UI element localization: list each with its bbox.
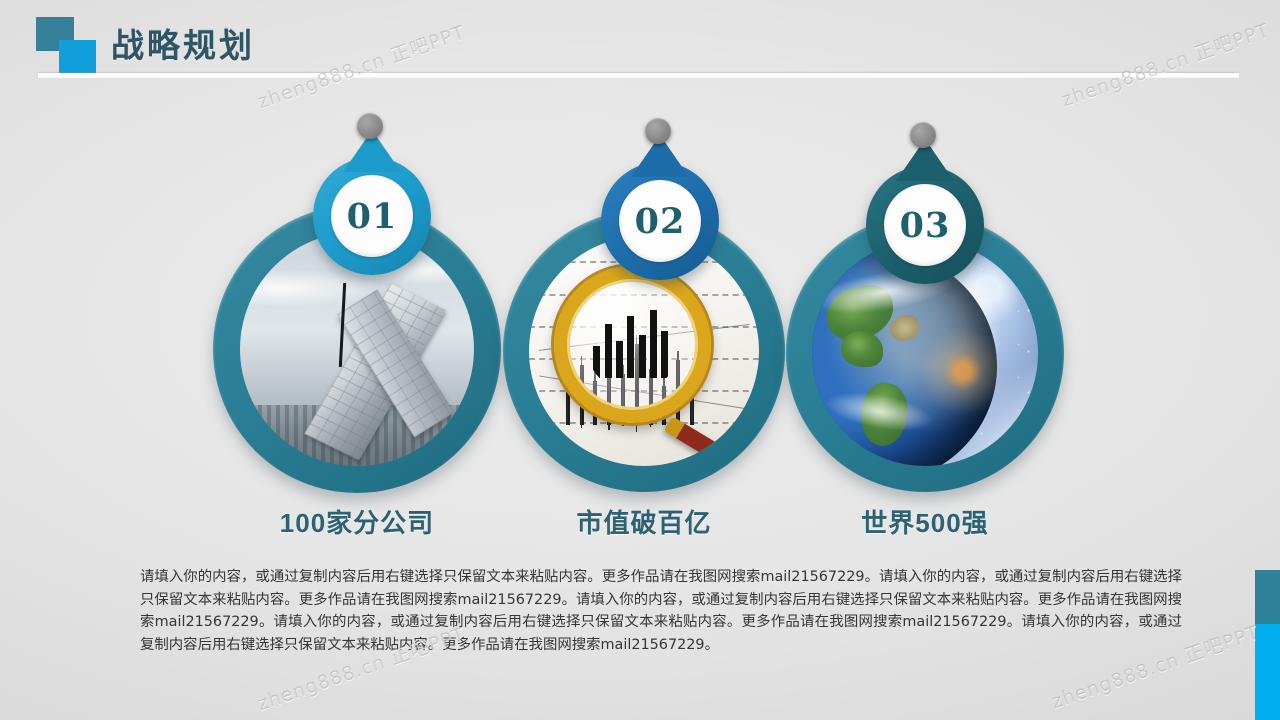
watermark-top-right: zheng888.cn 正吧PPT: [1058, 16, 1273, 113]
step-badge-disc-01: 01: [331, 175, 413, 257]
magnifier-lens: [554, 266, 711, 423]
slide-canvas: 战略规划 01 100家分公司: [0, 0, 1280, 720]
watermark-top-left: zheng888.cn 正吧PPT: [254, 18, 469, 115]
pin-dot-01: [357, 113, 383, 139]
step-badge-03[interactable]: 03: [866, 166, 984, 284]
step-badge-02[interactable]: 02: [601, 162, 719, 280]
step-badge-disc-03: 03: [884, 184, 966, 266]
step-number-02: 02: [635, 204, 686, 239]
step-number-03: 03: [900, 208, 951, 243]
item-caption-02: 市值破百亿: [524, 503, 764, 540]
pin-dot-03: [910, 122, 936, 148]
step-badge-01[interactable]: 01: [313, 157, 431, 275]
item-caption-01: 100家分公司: [237, 503, 477, 540]
footer-square-dark: [1255, 570, 1280, 624]
header-square-bright: [59, 40, 96, 74]
title-divider: [38, 73, 1239, 78]
footer-square-bright: [1255, 624, 1280, 720]
item-caption-03: 世界500强: [805, 503, 1045, 540]
pin-dot-02: [645, 118, 671, 144]
step-badge-disc-02: 02: [619, 180, 701, 262]
page-title: 战略规划: [111, 19, 255, 67]
step-number-01: 01: [347, 199, 398, 234]
body-paragraph: 请填入你的内容，或通过复制内容后用右键选择只保留文本来粘贴内容。更多作品请在我图…: [140, 566, 1182, 656]
